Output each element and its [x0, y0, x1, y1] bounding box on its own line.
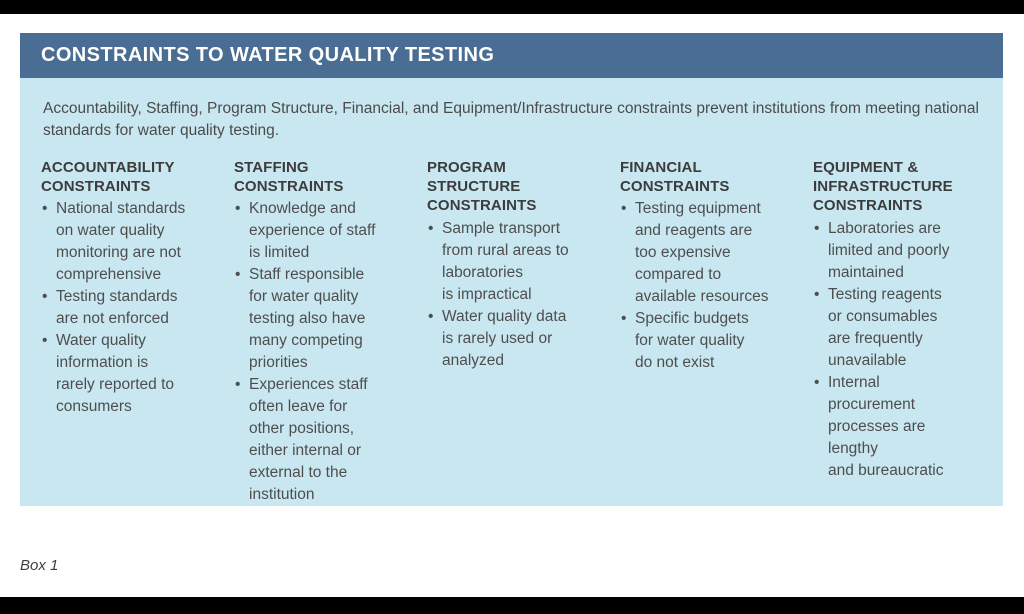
list-item-text: Testing standards are not enforced [56, 288, 178, 327]
bullet-icon: • [42, 330, 47, 352]
constraints-columns: ACCOUNTABILITY CONSTRAINTS•National stan… [20, 142, 1003, 506]
bullet-icon: • [235, 374, 240, 396]
list-item-text: Internal procurement processes are lengt… [828, 374, 943, 479]
list-item: •Water quality information is rarely rep… [41, 330, 228, 418]
list-item-text: Specific budgets for water quality do no… [635, 310, 749, 371]
bullet-icon: • [621, 198, 626, 220]
list-item: •Knowledge and experience of staff is li… [234, 198, 421, 264]
list-item-text: Laboratories are limited and poorly main… [828, 220, 949, 281]
list-item-text: Knowledge and experience of staff is lim… [249, 200, 375, 261]
constraint-column: EQUIPMENT & INFRASTRUCTURE CONSTRAINTS•L… [813, 158, 1006, 482]
list-item: •Internal procurement processes are leng… [813, 372, 1000, 482]
list-item-text: Water quality information is rarely repo… [56, 332, 174, 415]
column-heading: FINANCIAL CONSTRAINTS [620, 158, 807, 196]
bullet-icon: • [235, 198, 240, 220]
bullet-icon: • [814, 284, 819, 306]
column-heading: ACCOUNTABILITY CONSTRAINTS [41, 158, 228, 196]
constraint-column: STAFFING CONSTRAINTS•Knowledge and exper… [234, 158, 427, 506]
constraint-column: FINANCIAL CONSTRAINTS•Testing equipment … [620, 158, 813, 374]
bullet-icon: • [428, 218, 433, 240]
constraint-column: PROGRAM STRUCTURE CONSTRAINTS•Sample tra… [427, 158, 620, 372]
intro-paragraph: Accountability, Staffing, Program Struct… [20, 78, 1003, 142]
list-item-text: Water quality data is rarely used or ana… [442, 308, 566, 369]
constraints-box: CONSTRAINTS TO WATER QUALITY TESTING Acc… [20, 33, 1003, 506]
bullet-icon: • [814, 372, 819, 394]
list-item-text: Testing equipment and reagents are too e… [635, 200, 769, 305]
column-heading: EQUIPMENT & INFRASTRUCTURE CONSTRAINTS [813, 158, 1000, 216]
page-canvas: CONSTRAINTS TO WATER QUALITY TESTING Acc… [0, 14, 1024, 597]
list-item: •Experiences staff often leave for other… [234, 374, 421, 506]
column-heading: STAFFING CONSTRAINTS [234, 158, 421, 196]
bullet-icon: • [814, 218, 819, 240]
list-item: •Testing reagents or consumables are fre… [813, 284, 1000, 372]
page-title: CONSTRAINTS TO WATER QUALITY TESTING [41, 44, 494, 67]
list-item: •Water quality data is rarely used or an… [427, 306, 614, 372]
constraint-list: •Laboratories are limited and poorly mai… [813, 218, 1000, 482]
list-item-text: Experiences staff often leave for other … [249, 376, 368, 503]
list-item: •Testing equipment and reagents are too … [620, 198, 807, 308]
list-item: •Staff responsible for water quality tes… [234, 264, 421, 374]
list-item: •Sample transport from rural areas to la… [427, 218, 614, 306]
box-caption: Box 1 [20, 557, 58, 574]
constraint-list: •Sample transport from rural areas to la… [427, 218, 614, 372]
list-item: •Laboratories are limited and poorly mai… [813, 218, 1000, 284]
list-item-text: Sample transport from rural areas to lab… [442, 220, 569, 303]
constraint-list: •National standards on water quality mon… [41, 198, 228, 418]
box-header-bar: CONSTRAINTS TO WATER QUALITY TESTING [20, 33, 1003, 78]
bullet-icon: • [42, 286, 47, 308]
constraint-column: ACCOUNTABILITY CONSTRAINTS•National stan… [41, 158, 234, 418]
bullet-icon: • [428, 306, 433, 328]
list-item-text: Staff responsible for water quality test… [249, 266, 365, 371]
list-item: •National standards on water quality mon… [41, 198, 228, 286]
constraint-list: •Knowledge and experience of staff is li… [234, 198, 421, 506]
bullet-icon: • [235, 264, 240, 286]
column-heading: PROGRAM STRUCTURE CONSTRAINTS [427, 158, 614, 216]
list-item: •Testing standards are not enforced [41, 286, 228, 330]
bullet-icon: • [42, 198, 47, 220]
list-item: •Specific budgets for water quality do n… [620, 308, 807, 374]
bullet-icon: • [621, 308, 626, 330]
constraint-list: •Testing equipment and reagents are too … [620, 198, 807, 374]
list-item-text: National standards on water quality moni… [56, 200, 185, 283]
list-item-text: Testing reagents or consumables are freq… [828, 286, 942, 369]
